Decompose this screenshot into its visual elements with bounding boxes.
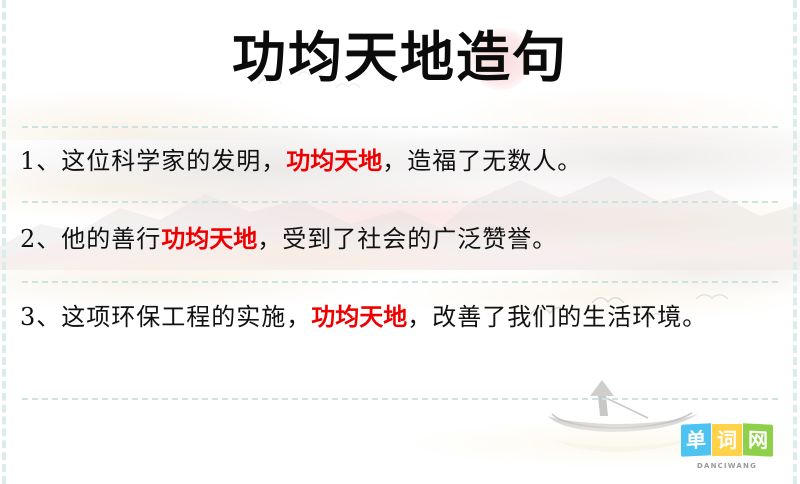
sentence-text-before: 他的善行 (61, 225, 161, 253)
page-title: 功均天地造句 (0, 26, 800, 88)
logo-char-3: 网 (743, 423, 773, 457)
idiom-highlight: 功均天地 (161, 224, 257, 253)
sentence-number: 2、 (20, 225, 61, 253)
list-item: 3、这项环保工程的实施，功均天地，改善了我们的生活环境。 (20, 300, 750, 335)
logo-caption: DANCIWANG (678, 462, 776, 470)
site-logo[interactable]: 单 词 网 DANCIWANG (678, 424, 776, 474)
separator-line-1 (22, 126, 778, 128)
logo-char-2: 词 (712, 424, 742, 456)
sentence-text-after: ，受到了社会的广泛赞誉。 (257, 225, 557, 253)
logo-char-1: 单 (681, 423, 711, 457)
sentence-text-after: ，改善了我们的生活环境。 (407, 303, 707, 331)
sentence-number: 3、 (20, 303, 61, 331)
slide-canvas: 功均天地造句 1、这位科学家的发明，功均天地，造福了无数人。 2、他的善行功均天… (0, 0, 800, 484)
sentence-text-after: ，造福了无数人。 (382, 147, 582, 175)
separator-line-4 (22, 398, 778, 400)
sentence-number: 1、 (20, 147, 61, 175)
list-item: 1、这位科学家的发明，功均天地，造福了无数人。 (20, 144, 770, 179)
separator-line-2 (22, 201, 778, 203)
separator-line-3 (22, 281, 778, 283)
logo-blocks: 单 词 网 (678, 424, 776, 458)
sentence-text-before: 这位科学家的发明， (61, 147, 286, 175)
idiom-highlight: 功均天地 (286, 146, 382, 175)
idiom-highlight: 功均天地 (311, 302, 407, 331)
list-item: 2、他的善行功均天地，受到了社会的广泛赞誉。 (20, 222, 770, 257)
sentence-text-before: 这项环保工程的实施， (61, 303, 311, 331)
